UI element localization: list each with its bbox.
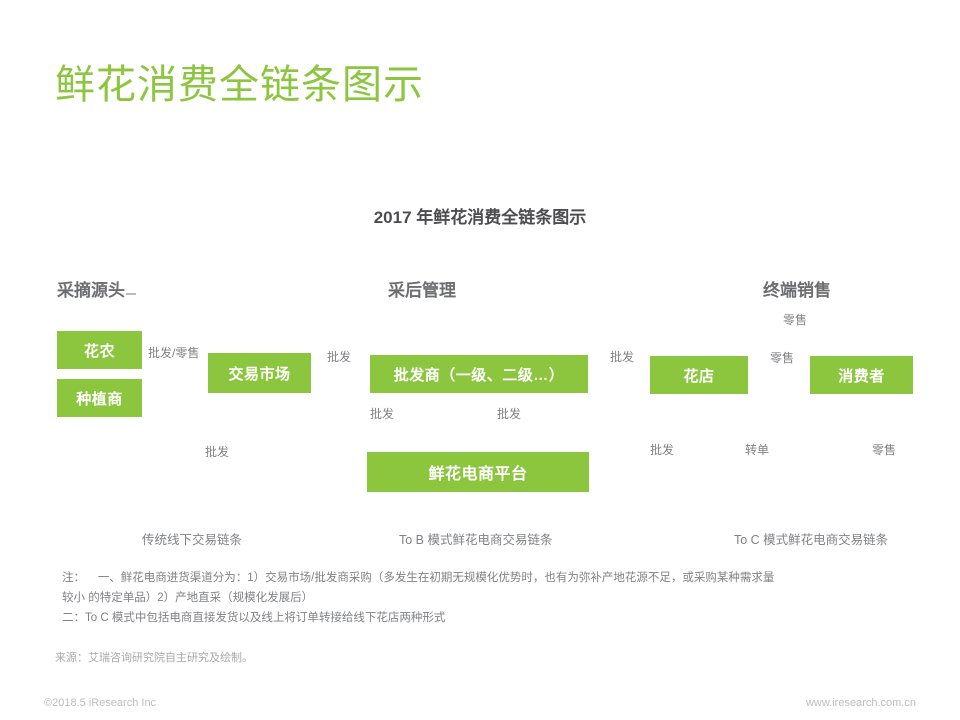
stage-header-label: 采摘源头 (57, 281, 125, 300)
footer-copyright: ©2018.5 iResearch Inc (44, 697, 156, 709)
edge-label-order-transfer: 转单 (745, 441, 769, 458)
edge-label-platform-to-florist: 批发 (650, 441, 674, 458)
node-box-jiaoyi-shichang: 交易市场 (208, 353, 311, 393)
stage-header-post-harvest: 采后管理 (388, 276, 456, 301)
edge-label-florist-to-consumer: 零售 (770, 349, 794, 366)
footer-website: www.iresearch.com.cn (806, 697, 916, 709)
node-box-xiaofeizhe: 消费者 (810, 356, 913, 394)
source-note: 来源：艾瑞咨询研究院自主研究及绘制。 (55, 649, 253, 665)
node-box-huadian: 花店 (650, 356, 748, 394)
footnote-line-1: 注： 一、鲜花电商进货渠道分为：1）交易市场/批发商采购（多发生在初期无规模化优… (62, 568, 902, 588)
footnote-line-3: 二：To C 模式中包括电商直接发货以及线上将订单转接给线下花店两种形式 (62, 608, 902, 628)
stage-header-tick-icon (126, 293, 136, 295)
node-box-huanong: 花农 (57, 331, 142, 369)
edge-label-source-to-platform: 批发 (205, 443, 229, 460)
edge-label-platform-to-consumer: 零售 (872, 441, 896, 458)
page-title: 鲜花消费全链条图示 (55, 52, 424, 110)
footnote: 注： 一、鲜花电商进货渠道分为：1）交易市场/批发商采购（多发生在初期无规模化优… (62, 568, 902, 628)
edge-label-distributor-down-right: 批发 (497, 405, 521, 422)
node-box-dianshang-pingtai: 鲜花电商平台 (367, 452, 589, 492)
edge-label-distributor-to-florist: 批发 (610, 348, 634, 365)
chain-caption-offline: 传统线下交易链条 (142, 529, 242, 548)
chart-title: 2017 年鲜花消费全链条图示 (0, 203, 960, 228)
edge-label-wholesale-retail: 批发/零售 (148, 344, 199, 361)
footnote-line-2: 较小 的特定单品）2）产地直采（规模化发展后） (62, 588, 902, 608)
chain-caption-toc: To C 模式鲜花电商交易链条 (734, 529, 888, 548)
edge-label-distributor-down-left: 批发 (370, 405, 394, 422)
slide-canvas: 鲜花消费全链条图示 2017 年鲜花消费全链条图示 采摘源头 采后管理 终端销售… (0, 0, 960, 720)
stage-header-harvest-source: 采摘源头 (57, 276, 136, 301)
chain-caption-tob: To B 模式鲜花电商交易链条 (399, 529, 553, 548)
node-box-zhongzhi: 种植商 (57, 379, 142, 417)
node-box-pifashang: 批发商（一级、二级…） (370, 355, 588, 393)
edge-label-retail-top: 零售 (783, 311, 807, 328)
stage-header-terminal-sales: 终端销售 (763, 276, 831, 301)
edge-label-wholesale-market-to-distributor: 批发 (327, 348, 351, 365)
